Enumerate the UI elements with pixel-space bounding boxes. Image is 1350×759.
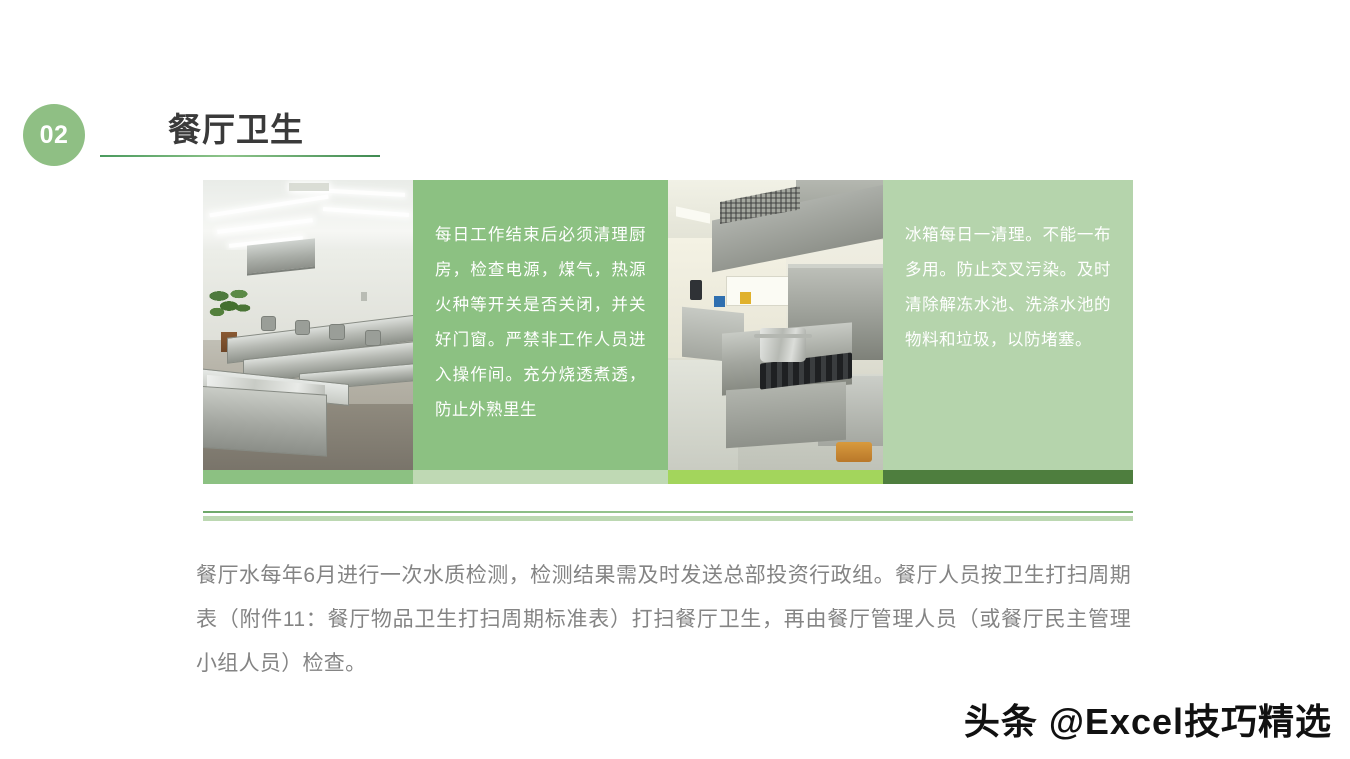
body-paragraph: 餐厅水每年6月进行一次水质检测，检测结果需及时发送总部投资行政组。餐厅人员按卫生… (196, 554, 1131, 686)
watermark-label: 头条 @Excel技巧精选 (964, 693, 1332, 745)
divider-thick-rule (203, 516, 1133, 521)
kitchen-photo-1-image (203, 180, 413, 470)
panel-text-1: 每日工作结束后必须清理厨房，检查电源，煤气，热源火种等开关是否关闭，并关好门窗。… (413, 180, 668, 428)
kitchen-photo-2-image (668, 180, 883, 470)
title-underline-rule (100, 155, 380, 157)
accent-color-bar (203, 470, 1133, 484)
page-title: 餐厅卫生 (168, 103, 304, 151)
divider-thin-rule (203, 511, 1133, 513)
text-panel-refrigerator-rules: 冰箱每日一清理。不能一布多用。防止交叉污染。及时清除解冻水池、洗涤水池的物料和垃… (883, 180, 1133, 470)
text-panel-kitchen-closing-rules: 每日工作结束后必须清理厨房，检查电源，煤气，热源火种等开关是否关闭，并关好门窗。… (413, 180, 668, 470)
content-panel-strip: 每日工作结束后必须清理厨房，检查电源，煤气，热源火种等开关是否关闭，并关好门窗。… (203, 180, 1133, 470)
panel-text-2: 冰箱每日一清理。不能一布多用。防止交叉污染。及时清除解冻水池、洗涤水池的物料和垃… (883, 180, 1133, 358)
accent-segment-4 (883, 470, 1133, 484)
accent-segment-1 (203, 470, 413, 484)
slide-header: 02 餐厅卫生 (0, 95, 1350, 175)
photo-panel-commercial-kitchen (203, 180, 413, 470)
section-number-label: 02 (40, 123, 69, 148)
accent-segment-2 (413, 470, 668, 484)
photo-panel-modern-kitchen (668, 180, 883, 470)
accent-segment-3 (668, 470, 883, 484)
section-number-badge: 02 (23, 104, 85, 166)
